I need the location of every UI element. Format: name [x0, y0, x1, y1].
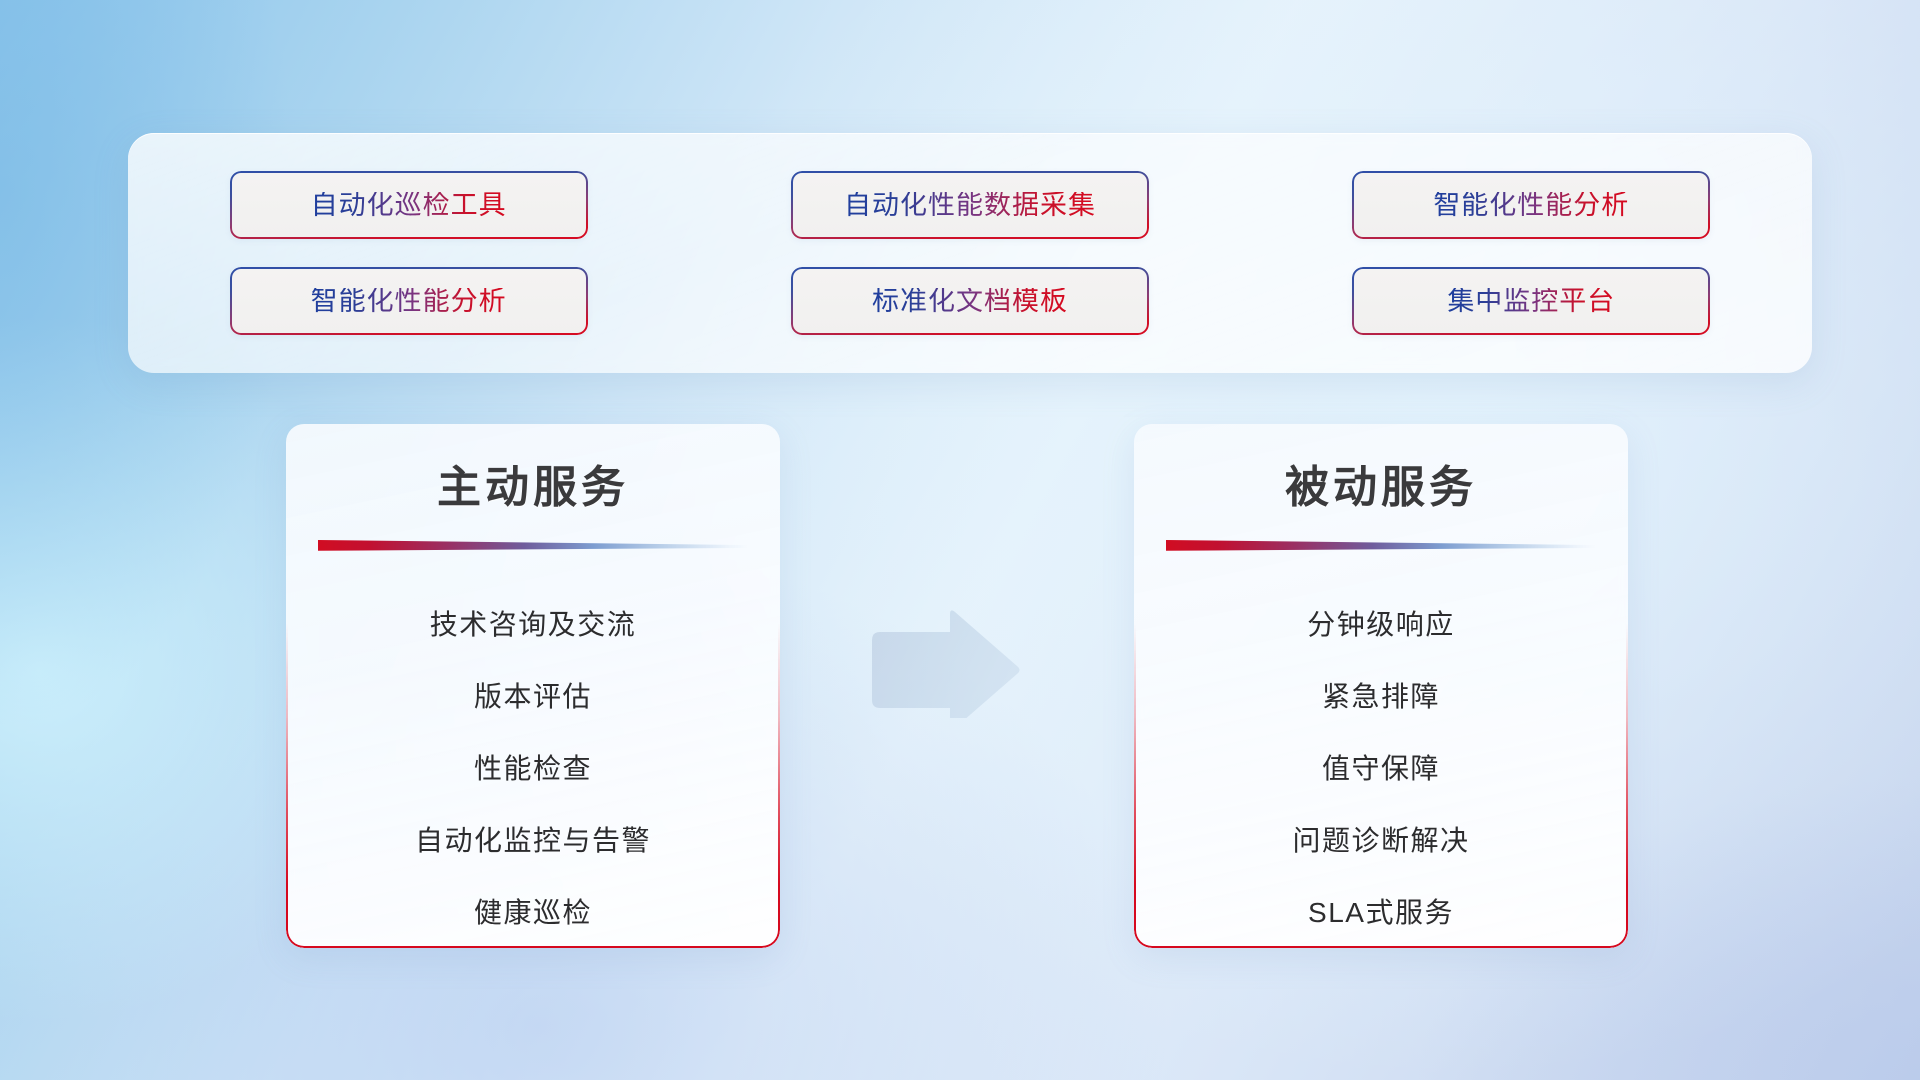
card-divider [318, 539, 748, 551]
capability-chip-label: 智能化性能分析 [311, 288, 507, 315]
service-card-reactive: 被动服务 分钟级响应 紧急排障 值守保障 问题诊断解决 SLA式服务 [1134, 424, 1628, 948]
capability-chip-intelligent-performance-analysis-top[interactable]: 智能化性能分析 [1352, 171, 1710, 239]
list-item: 版本评估 [474, 661, 592, 733]
list-item: SLA式服务 [1308, 877, 1454, 948]
capabilities-panel: 自动化巡检工具 自动化性能数据采集 智能化性能分析 智能化性能分析 标准化文档模… [128, 133, 1812, 373]
arrow-right-icon [864, 608, 1024, 718]
capability-chip-intelligent-performance-analysis-bottom[interactable]: 智能化性能分析 [230, 267, 588, 335]
card-title: 被动服务 [1134, 462, 1628, 515]
list-item: 健康巡检 [474, 877, 592, 948]
capability-chip-label: 集中监控平台 [1447, 288, 1615, 315]
list-item: 自动化监控与告警 [415, 805, 651, 877]
capability-chip-automated-performance-data-collection[interactable]: 自动化性能数据采集 [791, 171, 1149, 239]
service-list-proactive: 技术咨询及交流 版本评估 性能检查 自动化监控与告警 健康巡检 [286, 589, 780, 948]
capability-chip-standardized-document-template[interactable]: 标准化文档模板 [791, 267, 1149, 335]
capability-chip-label: 自动化性能数据采集 [844, 192, 1096, 219]
capability-chip-label: 标准化文档模板 [872, 288, 1068, 315]
capability-chip-automated-inspection-tool[interactable]: 自动化巡检工具 [230, 171, 588, 239]
list-item: 技术咨询及交流 [430, 589, 637, 661]
list-item: 紧急排障 [1322, 661, 1440, 733]
capability-chip-label: 智能化性能分析 [1433, 192, 1629, 219]
capabilities-row-1: 自动化巡检工具 自动化性能数据采集 智能化性能分析 [128, 157, 1812, 253]
slide-canvas: 自动化巡检工具 自动化性能数据采集 智能化性能分析 智能化性能分析 标准化文档模… [0, 0, 1920, 1080]
service-list-reactive: 分钟级响应 紧急排障 值守保障 问题诊断解决 SLA式服务 [1134, 589, 1628, 948]
card-divider-bar [1166, 539, 1596, 551]
card-divider [1166, 539, 1596, 551]
card-title: 主动服务 [286, 462, 780, 515]
list-item: 问题诊断解决 [1292, 805, 1469, 877]
card-divider-bar [318, 539, 748, 551]
capability-chip-label: 自动化巡检工具 [311, 192, 507, 219]
capabilities-row-2: 智能化性能分析 标准化文档模板 集中监控平台 [128, 253, 1812, 349]
list-item: 分钟级响应 [1307, 589, 1455, 661]
capability-chip-centralized-monitoring-platform[interactable]: 集中监控平台 [1352, 267, 1710, 335]
service-card-proactive: 主动服务 技术咨询及交流 版本评估 性能检查 自动化监控与告警 健康巡检 [286, 424, 780, 948]
list-item: 性能检查 [474, 733, 592, 805]
list-item: 值守保障 [1322, 733, 1440, 805]
